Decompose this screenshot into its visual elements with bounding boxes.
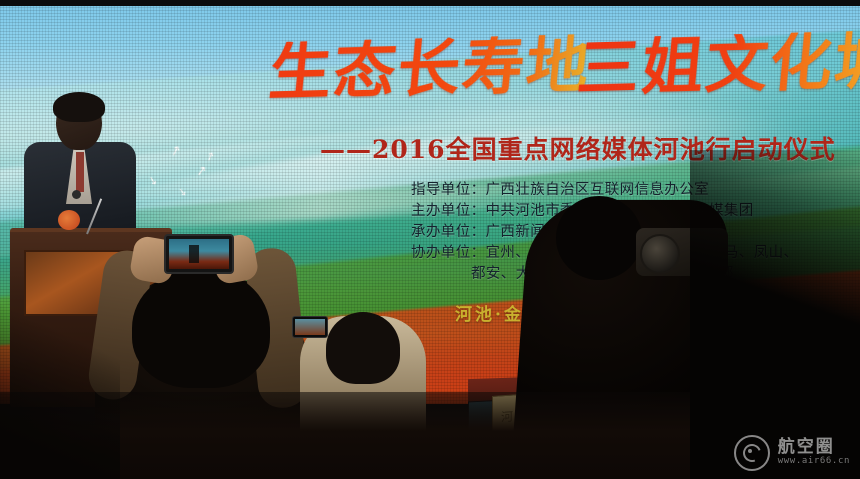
backdrop-subtitle: ——2016全国重点网络媒体河池行启动仪式 bbox=[320, 130, 836, 166]
watermark-logo-icon bbox=[734, 435, 770, 471]
foreground-dark-area bbox=[0, 392, 860, 479]
bird-icon: ↘ bbox=[178, 188, 187, 199]
organizer-value: 中共河池市委宣传部、广西日报传媒集团 bbox=[486, 203, 754, 219]
organizer-label: 主办单位： bbox=[411, 203, 486, 219]
organizer-value: 广西壮族自治区互联网信息办公室 bbox=[486, 182, 710, 198]
organizer-continuation-line: 都安、大化等9个县（市、区）委宣传部 bbox=[411, 264, 798, 285]
ceiling-dark-bar bbox=[0, 0, 860, 6]
organizer-value: 宜州、环江、南丹、天峨、东兰、巴马、凤山、 bbox=[486, 245, 799, 261]
watermark-site-name: 航空圈 bbox=[778, 439, 850, 457]
name-placard-text: 河 池 行 bbox=[501, 403, 575, 425]
watermark-text-group: 航空圈 www.air66.cn bbox=[778, 439, 850, 466]
watermark: 航空圈 www.air66.cn bbox=[734, 435, 850, 471]
organizer-line: 协办单位：宜州、环江、南丹、天峨、东兰、巴马、凤山、 bbox=[411, 243, 798, 264]
backdrop-place-date-line: 河池·金城江 201 bbox=[455, 300, 617, 325]
organizer-label: 指导单位： bbox=[411, 182, 486, 198]
bird-icon: ↗ bbox=[195, 163, 208, 177]
watermark-url: www.air66.cn bbox=[778, 457, 850, 466]
organizer-line: 主办单位：中共河池市委宣传部、广西日报传媒集团 bbox=[411, 201, 798, 222]
organizer-label: 承办单位： bbox=[411, 224, 486, 240]
organizer-line: 指导单位：广西壮族自治区互联网信息办公室 bbox=[411, 180, 798, 201]
title-phrase-one: 生态长寿地 bbox=[267, 34, 594, 104]
title-phrase-two: 三姐文化城 bbox=[575, 30, 860, 100]
organizer-label: 协办单位： bbox=[411, 245, 486, 261]
organizer-text-block: 指导单位：广西壮族自治区互联网信息办公室 主办单位：中共河池市委宣传部、广西日报… bbox=[411, 180, 798, 285]
photo-canvas: ↗ ↗ ↘ ↗ ↘ 生态长寿地 三姐文化城 ——2016全国重点网络媒体河池行启… bbox=[0, 0, 860, 479]
organizer-value: 广西新闻网 bbox=[486, 224, 561, 240]
organizer-line: 承办单位：广西新闻网 bbox=[411, 222, 798, 243]
